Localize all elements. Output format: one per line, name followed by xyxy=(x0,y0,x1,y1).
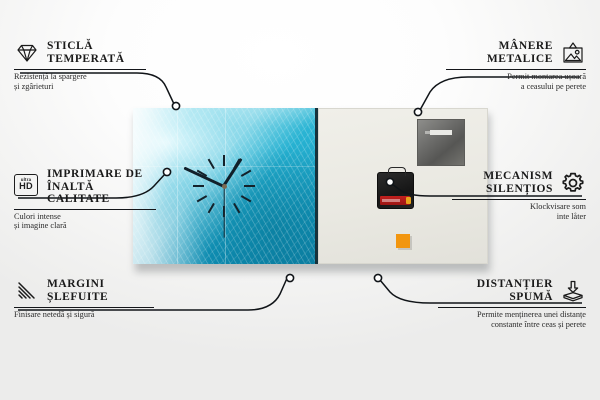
callout-metal-handles: MÂNERE METALICE Permit montarea ușoară a… xyxy=(446,40,586,91)
battery xyxy=(380,196,410,205)
callout-title: STICLĂ TEMPERATĂ xyxy=(47,40,125,65)
quartz-mechanism xyxy=(377,172,414,209)
callout-desc: Finisare netedă și sigură xyxy=(14,310,154,320)
clock-second-hand xyxy=(223,186,224,238)
callout-title: MECANISM SILENȚIOS xyxy=(483,170,553,195)
callout-title: MARGINI ȘLEFUITE xyxy=(47,278,108,303)
callout-rule xyxy=(452,199,586,200)
callout-title: MÂNERE METALICE xyxy=(487,40,553,65)
clock-dial xyxy=(133,108,315,264)
product-image xyxy=(133,108,488,268)
callout-rule xyxy=(14,209,156,210)
callout-silent-mechanism: MECANISM SILENȚIOS Klockvisare som inte … xyxy=(452,170,586,221)
hanging-bracket xyxy=(388,167,406,176)
callout-polished-edges: MARGINI ȘLEFUITE Finisare netedă și sigu… xyxy=(14,278,154,320)
callout-title: IMPRIMARE DE ÎNALTĂ CALITATE xyxy=(47,168,156,206)
ultra-hd-main-text: HD xyxy=(19,182,33,192)
callout-high-quality-print: ultra HD IMPRIMARE DE ÎNALTĂ CALITATE Cu… xyxy=(14,168,156,231)
callout-desc: Culori intense și imagine clară xyxy=(14,212,156,231)
callout-foam-spacer: DISTANȚIER SPUMĂ Permite menținerea unei… xyxy=(438,278,586,329)
callout-title: DISTANȚIER SPUMĂ xyxy=(477,278,553,303)
infographic-canvas: STICLĂ TEMPERATĂ Rezistență la spargere … xyxy=(0,0,600,400)
clock-hour-hand xyxy=(223,158,243,187)
callout-tempered-glass: STICLĂ TEMPERATĂ Rezistență la spargere … xyxy=(14,40,146,91)
clock-center-hub xyxy=(222,184,227,189)
callout-rule xyxy=(438,307,586,308)
clock-front-panel xyxy=(133,108,318,264)
callout-rule xyxy=(14,69,146,70)
gear-icon xyxy=(560,170,586,196)
callout-desc: Klockvisare som inte låter xyxy=(452,202,586,221)
callout-desc: Permite menținerea unei distanțe constan… xyxy=(438,310,586,329)
callout-rule xyxy=(446,69,586,70)
metal-hanger-plate xyxy=(417,119,465,166)
picture-hanger-icon xyxy=(560,40,586,66)
foam-spacer xyxy=(396,234,410,248)
press-pad-icon xyxy=(560,278,586,304)
leader-dot-spacer xyxy=(374,274,381,281)
ultra-hd-icon: ultra HD xyxy=(14,174,40,200)
callout-desc: Permit montarea ușoară a ceasului pe per… xyxy=(446,72,586,91)
bevel-edge-icon xyxy=(14,278,40,304)
callout-desc: Rezistență la spargere și zgârieturi xyxy=(14,72,146,91)
diamond-icon xyxy=(14,40,40,66)
callout-rule xyxy=(14,307,154,308)
leader-dot-edges xyxy=(286,274,293,281)
